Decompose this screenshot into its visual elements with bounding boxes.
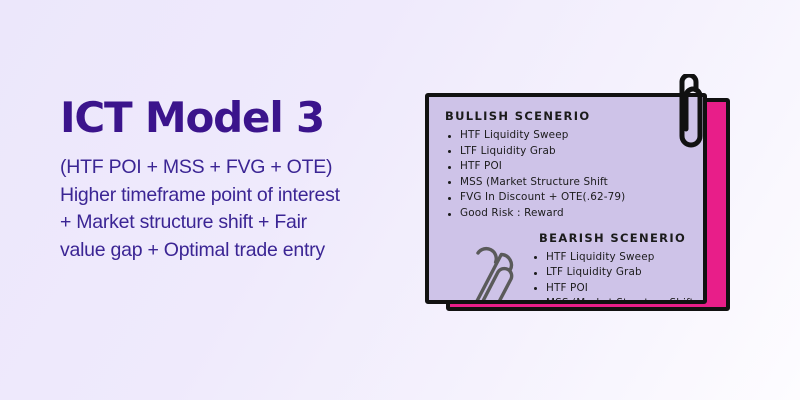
subtitle-line-2: Higher timeframe point of interest bbox=[60, 182, 400, 210]
scenario-card-stack: BULLISH SCENERIO HTF Liquidity Sweep LTF… bbox=[424, 74, 754, 344]
subtitle-block: (HTF POI + MSS + FVG + OTE) Higher timef… bbox=[60, 154, 400, 265]
bullish-list: HTF Liquidity Sweep LTF Liquidity Grab H… bbox=[445, 128, 693, 222]
subtitle-line-3: + Market structure shift + Fair bbox=[60, 209, 400, 237]
card-front-layer: BULLISH SCENERIO HTF Liquidity Sweep LTF… bbox=[425, 93, 707, 304]
headline-block: ICT Model 3 (HTF POI + MSS + FVG + OTE) … bbox=[60, 96, 400, 265]
list-item: Good Risk : Reward bbox=[445, 206, 693, 222]
subtitle-line-4: value gap + Optimal trade entry bbox=[60, 237, 400, 265]
list-item: MSS (Market Structure Shift bbox=[445, 175, 693, 191]
list-item: LTF Liquidity Grab bbox=[531, 265, 693, 281]
list-item: HTF POI bbox=[531, 281, 693, 297]
list-item: HTF POI bbox=[445, 159, 693, 175]
list-item: FVG In Discount + OTE(.62-79) bbox=[445, 190, 693, 206]
paperclip-icon bbox=[461, 245, 519, 304]
page-title: ICT Model 3 bbox=[60, 96, 400, 140]
list-item: HTF Liquidity Sweep bbox=[531, 250, 693, 266]
bearish-list: HTF Liquidity Sweep LTF Liquidity Grab H… bbox=[531, 250, 693, 304]
bearish-scenario-block: BEARISH SCENERIO HTF Liquidity Sweep LTF… bbox=[531, 231, 693, 304]
list-item: HTF Liquidity Sweep bbox=[445, 128, 693, 144]
bullish-scenario-block: BULLISH SCENERIO HTF Liquidity Sweep LTF… bbox=[445, 109, 693, 222]
list-item: LTF Liquidity Grab bbox=[445, 144, 693, 160]
subtitle-line-1: (HTF POI + MSS + FVG + OTE) bbox=[60, 154, 400, 182]
list-item: MSS (Market Structure Shift bbox=[531, 296, 693, 304]
card-content: BULLISH SCENERIO HTF Liquidity Sweep LTF… bbox=[429, 97, 703, 300]
slide-canvas: ICT Model 3 (HTF POI + MSS + FVG + OTE) … bbox=[0, 0, 800, 400]
bullish-heading: BULLISH SCENERIO bbox=[445, 109, 693, 123]
bearish-heading: BEARISH SCENERIO bbox=[539, 231, 693, 245]
